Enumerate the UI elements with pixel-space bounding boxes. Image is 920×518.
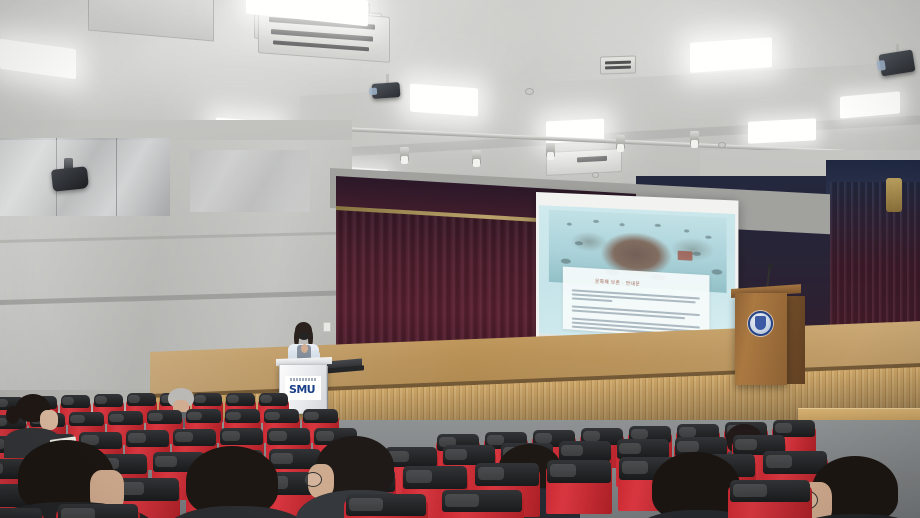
wooden-lectern[interactable] [735,293,787,385]
track-spotlight-3 [472,150,481,165]
track-spotlight-4 [546,143,555,158]
ceiling-ac-cassette-lower [546,148,622,176]
ceiling-light-panel-3 [410,84,478,117]
ceiling-light-panel-7 [748,118,816,144]
university-seal-icon [748,311,773,336]
smoke-detector [718,142,726,148]
podium-logo-plate: SMU [285,376,321,400]
slide-heading: 문화재 보존 · 안내문 [595,279,640,288]
table-row[interactable] [56,504,140,518]
projection-screen-surface: 문화재 보존 · 안내문 [539,205,735,348]
projector-1 [372,82,401,99]
auditorium-photo: 문화재 보존 · 안내문 [0,0,920,518]
wall-switch[interactable] [323,322,331,332]
glasses-icon [304,472,322,487]
slide-text-card: 문화재 보존 · 안내문 [563,267,710,340]
face-mask-icon [299,333,309,340]
curtain-gold-tassel [886,178,902,212]
lectern-side-panel [787,296,805,384]
sprinkler-head-2 [592,172,599,178]
table-row[interactable] [728,480,812,518]
table-row[interactable] [344,494,428,518]
smu-logo-text: SMU [289,383,315,396]
sprinkler-head-1 [525,88,534,95]
ceiling-light-panel-5 [690,37,772,73]
wall-speaker-icon [51,166,89,192]
ceiling-ac-cassette-right [600,55,636,74]
table-row[interactable] [546,460,612,514]
track-spotlight-5 [616,135,625,150]
presenter-hand [301,344,308,353]
podium-logo-subtext [290,378,316,381]
table-row[interactable] [0,508,44,518]
table-row[interactable] [440,490,524,518]
track-spotlight-2 [400,147,409,162]
track-spotlight-6 [690,131,699,146]
microphone-icon [768,264,773,268]
